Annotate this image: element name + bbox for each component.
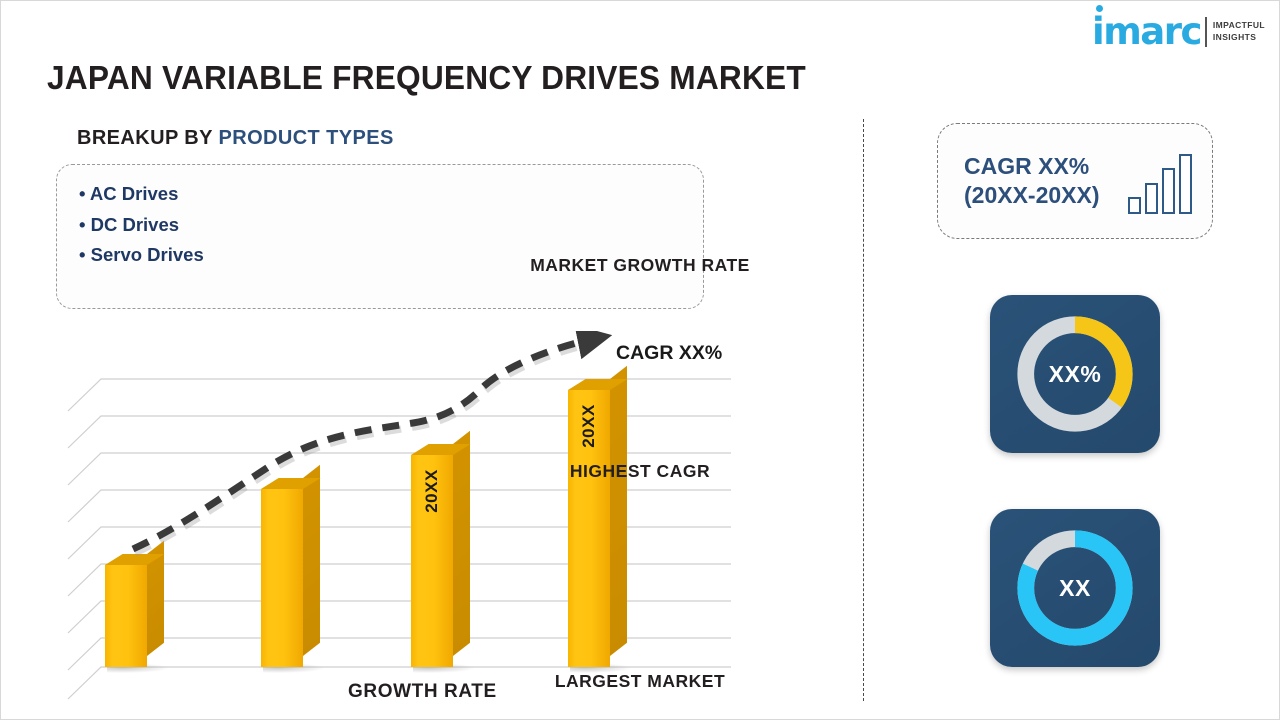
- highest-cagr-value: XX%: [1049, 361, 1102, 388]
- imarc-logo: imarc IMPACTFUL INSIGHTS: [1092, 13, 1265, 50]
- bar-chart-icon-bar-2: [1145, 183, 1158, 214]
- logo-tagline-line1: IMPACTFUL: [1213, 20, 1265, 31]
- largest-market-caption: LARGEST MARKET: [1, 671, 1279, 692]
- bar-chart-icon-bar-3: [1162, 168, 1175, 214]
- largest-market-card: XX: [990, 509, 1160, 667]
- logo-wordmark: imarc: [1092, 13, 1201, 50]
- largest-market-value: XX: [1059, 575, 1091, 602]
- cagr-value: CAGR XX%: [964, 152, 1100, 181]
- bar-chart-icon: [1128, 154, 1192, 214]
- logo-tagline-line2: INSIGHTS: [1213, 32, 1265, 43]
- logo-tagline: IMPACTFUL INSIGHTS: [1213, 20, 1265, 43]
- trend-arrow-icon: [63, 331, 743, 706]
- market-growth-rate-box: CAGR XX% (20XX-20XX): [937, 123, 1213, 239]
- highest-cagr-caption: HIGHEST CAGR: [1, 461, 1279, 482]
- subtitle-prefix: BREAKUP BY: [77, 127, 218, 149]
- subtitle: BREAKUP BY PRODUCT TYPES: [77, 127, 394, 150]
- chart-cagr-label: CAGR XX%: [616, 342, 722, 365]
- infographic-slide: imarc IMPACTFUL INSIGHTS JAPAN VARIABLE …: [0, 0, 1280, 720]
- cagr-period: (20XX-20XX): [964, 181, 1100, 210]
- logo-dot-icon: [1096, 5, 1103, 12]
- vertical-divider: [863, 119, 864, 701]
- market-growth-rate-caption: MARKET GROWTH RATE: [1, 255, 1279, 276]
- page-title: JAPAN VARIABLE FREQUENCY DRIVES MARKET: [47, 59, 806, 97]
- subtitle-accent: PRODUCT TYPES: [218, 127, 393, 149]
- logo-divider: [1205, 17, 1207, 47]
- product-types-box: • AC Drives • DC Drives • Servo Drives: [56, 164, 704, 309]
- cagr-text: CAGR XX% (20XX-20XX): [964, 152, 1100, 210]
- highest-cagr-card: XX%: [990, 295, 1160, 453]
- list-item: • AC Drives: [79, 179, 703, 210]
- growth-rate-chart: 20XX 20XX: [63, 331, 743, 706]
- logo-wordmark-text: imarc: [1092, 10, 1201, 53]
- bar-chart-icon-bar-4: [1179, 154, 1192, 214]
- list-item: • DC Drives: [79, 210, 703, 241]
- bar-chart-icon-bar-1: [1128, 197, 1141, 214]
